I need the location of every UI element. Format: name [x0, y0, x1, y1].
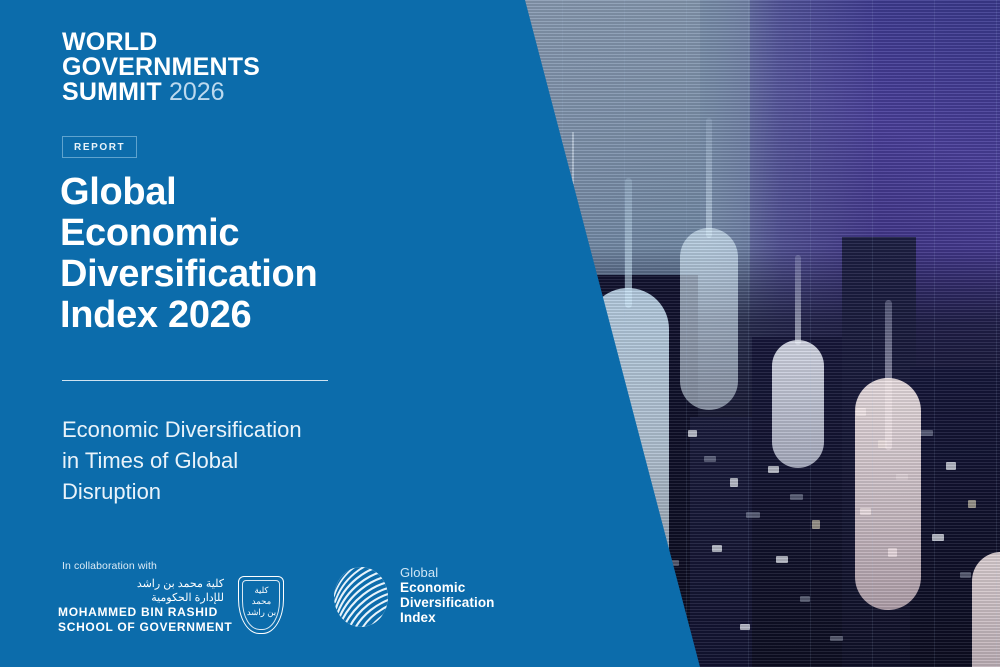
- window-light: [730, 478, 738, 487]
- gedi-line-2: Economic: [400, 580, 495, 595]
- shield-arabic-line-2: محمد: [238, 596, 284, 607]
- window-light: [776, 556, 788, 563]
- window-light: [740, 624, 750, 630]
- page-subtitle: Economic Diversification in Times of Glo…: [62, 414, 482, 507]
- report-cover: WORLD GOVERNMENTS SUMMIT 2026 REPORT Glo…: [0, 0, 1000, 667]
- mbrsg-logo: كلية محمد بن راشد للإدارة الحكومية MOHAM…: [58, 575, 284, 635]
- page-subtitle-line-2: in Times of Global: [62, 445, 482, 476]
- window-light: [688, 430, 697, 437]
- collaboration-label: In collaboration with: [62, 560, 157, 572]
- candlestick-body: [772, 340, 824, 468]
- gedi-line-3: Diversification: [400, 595, 495, 610]
- candlestick-wick: [706, 118, 712, 238]
- wgs-logo-line-1: WORLD: [62, 30, 260, 55]
- page-title-line-3: Diversification: [60, 254, 520, 295]
- gedi-logo: Global Economic Diversification Index: [330, 558, 495, 630]
- window-light: [790, 494, 803, 500]
- window-light: [920, 430, 933, 436]
- window-light: [812, 520, 820, 529]
- page-subtitle-line-3: Disruption: [62, 476, 482, 507]
- page-subtitle-line-1: Economic Diversification: [62, 414, 482, 445]
- mbrsg-english-line-1: MOHAMMED BIN RASHID: [58, 605, 232, 620]
- wgs-logo-year: 2026: [169, 78, 225, 106]
- window-light: [768, 466, 779, 473]
- candlestick-body: [680, 228, 738, 410]
- candlestick-body: [972, 552, 1000, 667]
- candlestick-wick: [795, 255, 801, 345]
- window-light: [800, 596, 810, 602]
- page-title-line-1: Global: [60, 172, 520, 213]
- window-light: [968, 500, 976, 508]
- window-light: [704, 456, 716, 462]
- partner-logos: كلية محمد بن راشد للإدارة الحكومية MOHAM…: [58, 575, 284, 635]
- mbrsg-logo-text: كلية محمد بن راشد للإدارة الحكومية MOHAM…: [58, 575, 232, 635]
- wgs-logo-line-3: SUMMIT 2026: [62, 80, 260, 105]
- candlestick-body: [855, 378, 921, 610]
- window-light: [932, 534, 944, 541]
- wgs-logo: WORLD GOVERNMENTS SUMMIT 2026: [62, 30, 260, 105]
- mbrsg-arabic-line-2: للإدارة الحكومية: [58, 591, 224, 605]
- title-divider: [62, 380, 328, 381]
- mbrsg-english-line-2: SCHOOL OF GOVERNMENT: [58, 620, 232, 635]
- window-light: [830, 636, 843, 641]
- gedi-line-1: Global: [400, 565, 495, 580]
- wgs-logo-summit: SUMMIT: [62, 78, 162, 106]
- mbrsg-arabic-line-1: كلية محمد بن راشد: [58, 577, 224, 591]
- page-title: Global Economic Diversification Index 20…: [60, 172, 520, 336]
- window-light: [746, 512, 760, 518]
- shield-arabic-line-3: بن راشد: [238, 607, 284, 618]
- page-title-line-4: Index 2026: [60, 295, 520, 336]
- shield-arabic-text: كلية محمد بن راشد: [238, 585, 284, 618]
- gedi-globe-icon: [330, 558, 392, 630]
- window-light: [960, 572, 971, 578]
- window-light: [712, 545, 722, 552]
- mbrsg-shield-icon: كلية محمد بن راشد: [238, 576, 284, 634]
- page-title-line-2: Economic: [60, 213, 520, 254]
- cover-content: WORLD GOVERNMENTS SUMMIT 2026 REPORT Glo…: [0, 0, 525, 667]
- gedi-logo-text: Global Economic Diversification Index: [400, 564, 495, 625]
- wgs-logo-line-2: GOVERNMENTS: [62, 55, 260, 80]
- report-badge: REPORT: [62, 136, 137, 158]
- shield-arabic-line-1: كلية: [238, 585, 284, 596]
- chart-tick: [572, 132, 574, 184]
- gedi-line-4: Index: [400, 610, 495, 625]
- window-light: [946, 462, 956, 470]
